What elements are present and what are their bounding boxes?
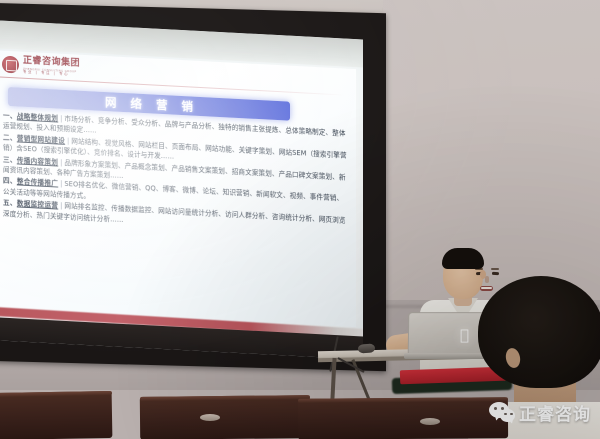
slide-title: 网 络 营 销 (100, 93, 198, 114)
apple-logo-icon:  (458, 328, 471, 343)
section-number: 五、 (3, 199, 17, 208)
section-heading: 战略整体规划 (17, 112, 58, 122)
wechat-dot (501, 407, 504, 410)
chair-back (298, 397, 508, 439)
section-heading: 数据监控运营 (17, 200, 58, 210)
section-number: 一、 (3, 112, 17, 121)
watermark: 正睿咨询 (489, 400, 591, 425)
wechat-icon (489, 402, 515, 424)
watermark-label: 正睿咨询 (519, 400, 591, 425)
chair-back (140, 395, 310, 439)
student-hair (478, 276, 600, 388)
projection-screen-frame: 正睿咨询集团 ZHENGRUI CONSULTING GROUP 专业 | 专注… (0, 3, 386, 371)
chair-badge (420, 418, 440, 425)
projected-slide: 正睿咨询集团 ZHENGRUI CONSULTING GROUP 专业 | 专注… (0, 50, 356, 327)
wechat-dot (494, 407, 497, 410)
section-heading: 整合传播推广 (17, 178, 58, 188)
slide-logo: 正睿咨询集团 ZHENGRUI CONSULTING GROUP 专业 | 专注… (2, 56, 80, 78)
wechat-bubble-small (500, 409, 515, 422)
presenter-eyebrow-right (491, 268, 499, 270)
presenter-hair (442, 248, 484, 269)
section-number: 四、 (3, 177, 17, 186)
company-logo-icon (2, 56, 19, 74)
section-heading: 营销型网站建设 (17, 134, 65, 145)
chair-badge (200, 414, 220, 421)
section-number: 二、 (3, 133, 17, 142)
chair-back (0, 391, 112, 439)
wechat-dot (510, 413, 513, 416)
classroom-photo: 正睿咨询集团 ZHENGRUI CONSULTING GROUP 专业 | 专注… (0, 0, 600, 439)
section-heading: 传播内容策划 (17, 156, 58, 166)
section-number: 三、 (3, 155, 17, 164)
projection-screen-surface: 正睿咨询集团 ZHENGRUI CONSULTING GROUP 专业 | 专注… (0, 20, 363, 360)
slide-body: 一、战略整体规划|市场分析、竞争分析、受众分析、品牌与产品分析、独特的销售主张提… (3, 111, 349, 238)
company-logo-text: 正睿咨询集团 ZHENGRUI CONSULTING GROUP 专业 | 专注… (23, 57, 80, 78)
presenter-eye-right (492, 272, 499, 275)
wechat-dot (504, 413, 507, 416)
